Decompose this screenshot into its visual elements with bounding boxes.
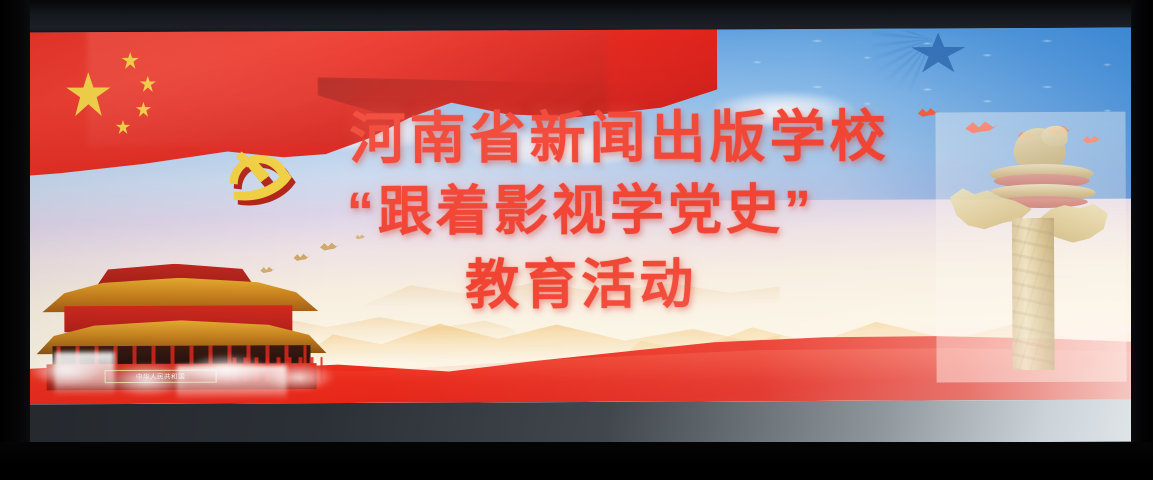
wall-left	[0, 0, 30, 480]
activity-name-line: 教育活动	[28, 254, 1134, 316]
display-board: 中华人民共和国	[27, 28, 1135, 447]
mist-cloud	[27, 339, 357, 404]
photo-canvas: 中华人民共和国	[0, 0, 1153, 480]
banner-artwork: 中华人民共和国	[27, 28, 1135, 405]
program-name-line: “跟着影视学党史”	[28, 181, 1134, 243]
wall-right	[1131, 0, 1153, 480]
banner-text-block: 河南省新闻出版学校 “跟着影视学党史” 教育活动	[27, 106, 1134, 317]
wall-bottom	[0, 442, 1153, 480]
school-name-line: 河南省新闻出版学校	[27, 106, 1133, 170]
hammer-and-sickle-icon	[224, 147, 302, 213]
